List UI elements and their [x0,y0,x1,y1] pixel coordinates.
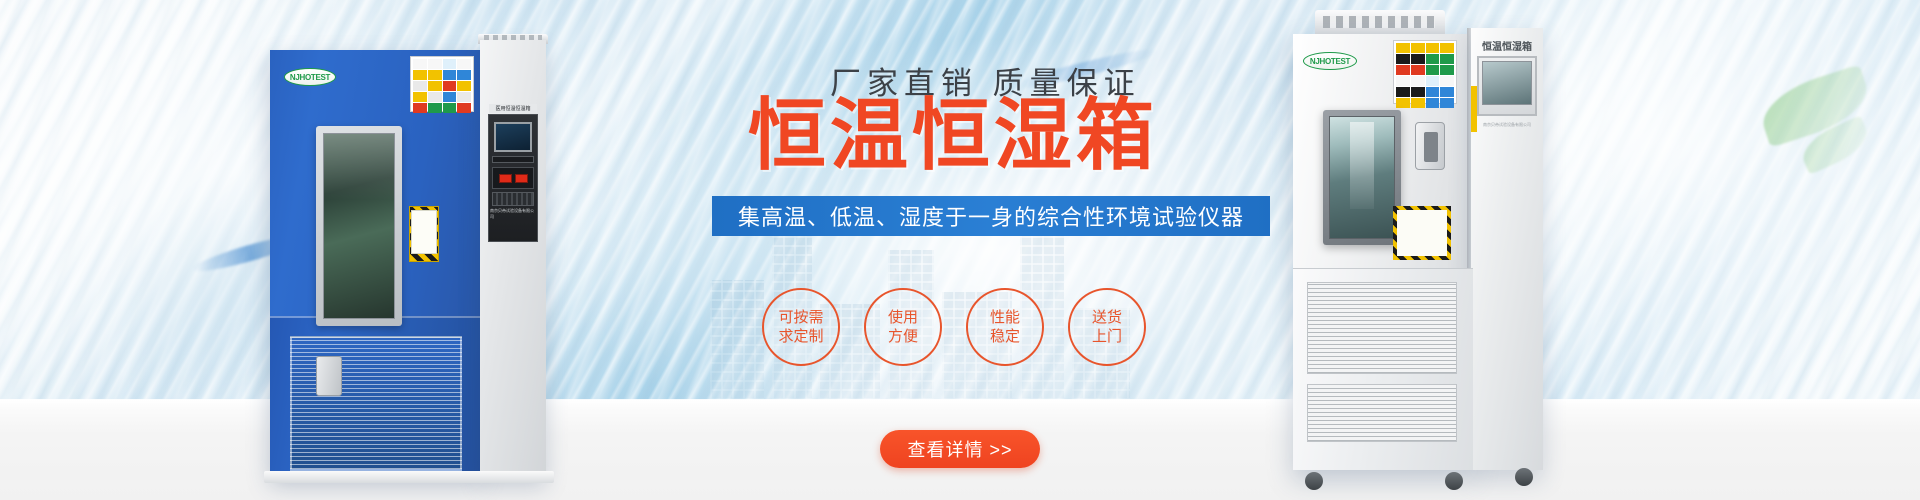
badge-line-2: 方便 [888,327,918,346]
badge-line-1: 性能 [990,308,1020,327]
badge-line-2: 求定制 [778,327,823,346]
feature-badge-3[interactable]: 性能 稳定 [966,288,1044,366]
badge-line-1: 可按需 [778,308,823,327]
badge-line-2: 稳定 [990,327,1020,346]
badge-line-2: 上门 [1092,327,1122,346]
feature-badge-1[interactable]: 可按需 求定制 [762,288,840,366]
subtitle-text: 集高温、低温、湿度于一身的综合性环境试验仪器 [738,200,1244,232]
view-details-button[interactable]: 查看详情 >> [880,430,1040,468]
feature-badges: 可按需 求定制 使用 方便 性能 稳定 送货 上门 [762,288,1182,378]
promo-banner: NJHOTEST [0,0,1920,500]
subtitle-bar: 集高温、低温、湿度于一身的综合性环境试验仪器 [712,196,1270,236]
feature-badge-4[interactable]: 送货 上门 [1068,288,1146,366]
banner-copy: 厂家直销 质量保证 恒温恒湿箱 集高温、低温、湿度于一身的综合性环境试验仪器 可… [0,0,1920,500]
feature-badge-2[interactable]: 使用 方便 [864,288,942,366]
badge-line-1: 送货 [1092,308,1122,327]
page-title: 恒温恒湿箱 [748,96,1158,174]
badge-line-1: 使用 [888,308,918,327]
